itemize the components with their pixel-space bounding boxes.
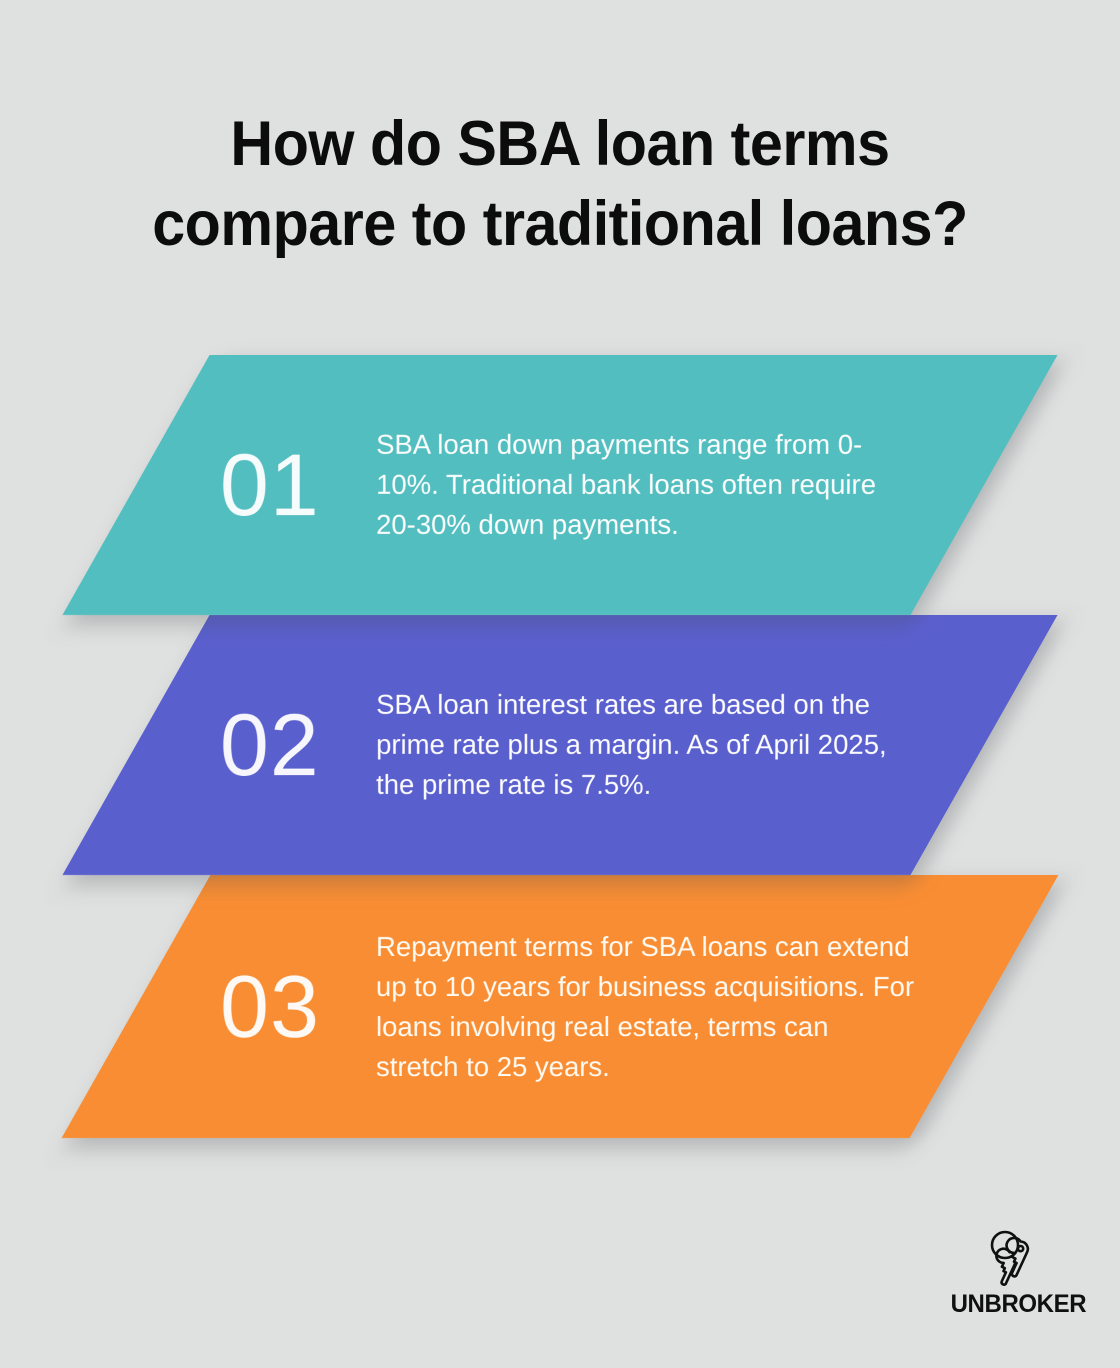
- banner-text-02: SBA loan interest rates are based on the…: [376, 685, 916, 805]
- two-keys-icon: [982, 1228, 1044, 1290]
- banner-number-02: 02: [220, 701, 376, 789]
- banner-item-01: 01 SBA loan down payments range from 0-1…: [62, 355, 1057, 615]
- page-title-line-2: compare to traditional loans?: [34, 184, 1087, 264]
- banner-item-03: 03 Repayment terms for SBA loans can ext…: [62, 875, 1059, 1138]
- banner-text-03: Repayment terms for SBA loans can extend…: [376, 927, 916, 1087]
- banner-item-02: 02 SBA loan interest rates are based on …: [62, 615, 1057, 875]
- brand-wordmark: UNBROKER: [951, 1290, 1076, 1318]
- page-title: How do SBA loan terms compare to traditi…: [0, 104, 1120, 264]
- page-title-line-1: How do SBA loan terms: [34, 104, 1087, 184]
- banner-number-03: 03: [220, 963, 376, 1051]
- brand-logo: UNBROKER: [948, 1228, 1078, 1328]
- banner-text-01: SBA loan down payments range from 0-10%.…: [376, 425, 916, 545]
- banner-list: 01 SBA loan down payments range from 0-1…: [0, 355, 1120, 1145]
- banner-number-01: 01: [220, 441, 376, 529]
